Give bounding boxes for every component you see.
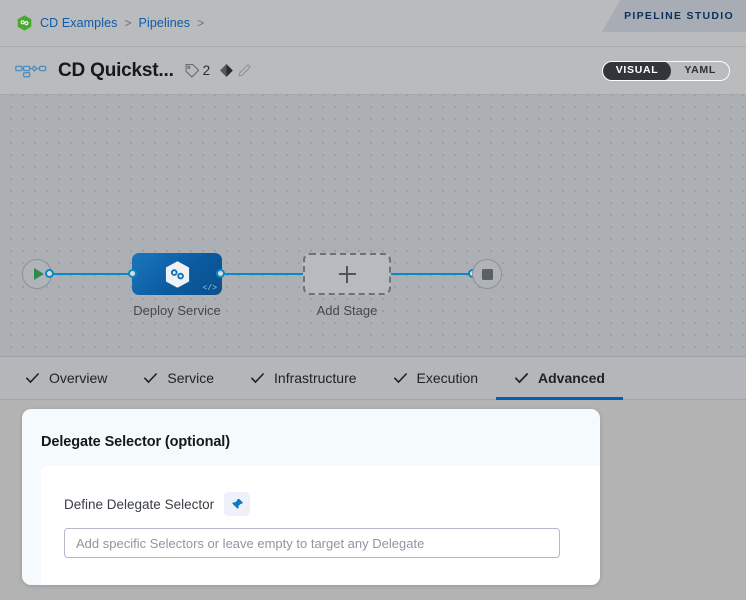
breadcrumb-link-pipelines[interactable]: Pipelines	[139, 16, 191, 30]
pipeline-studio-page: CD Examples > Pipelines > PIPELINE STUDI…	[0, 0, 746, 600]
stage-config-tabs: Overview Service Infrastructure Executio…	[0, 357, 746, 400]
pipeline-title-bar: CD Quickst... 2 VI	[0, 47, 746, 95]
add-stage-label: Add Stage	[303, 303, 391, 318]
pencil-edit-icon[interactable]	[237, 63, 252, 78]
check-icon	[143, 372, 158, 384]
tab-infrastructure[interactable]: Infrastructure	[232, 357, 374, 400]
harness-hexagon-icon	[164, 260, 191, 289]
delegate-selector-card: Delegate Selector (optional) Define Dele…	[22, 409, 600, 585]
tab-overview[interactable]: Overview	[7, 357, 125, 400]
end-node[interactable]	[472, 259, 502, 289]
pipeline-canvas[interactable]: </> Deploy Service Add Stage	[0, 95, 746, 357]
view-mode-toggle[interactable]: VISUAL YAML	[602, 61, 730, 81]
delegate-selector-field-label: Define Delegate Selector	[64, 497, 214, 512]
tag-count: 2	[203, 63, 211, 78]
port-deploy-in[interactable]	[128, 269, 137, 278]
play-triangle-icon	[34, 268, 44, 280]
pipeline-studio-badge: PIPELINE STUDIO	[602, 0, 746, 32]
breadcrumb-link-cd-examples[interactable]: CD Examples	[40, 16, 118, 30]
plus-icon-vertical	[346, 266, 348, 283]
git-diamond-icon[interactable]	[219, 63, 234, 78]
harness-hexagon-icon	[17, 15, 32, 31]
breadcrumb-separator: >	[197, 16, 204, 30]
edge-addstage-to-end	[388, 273, 476, 275]
delegate-selector-inner-panel: Define Delegate Selector	[41, 466, 600, 585]
port-deploy-out[interactable]	[216, 269, 225, 278]
port-start-out[interactable]	[45, 269, 54, 278]
delegate-selector-input[interactable]	[64, 528, 560, 558]
delegate-selector-heading: Delegate Selector (optional)	[22, 409, 600, 450]
delegate-selector-field-row: Define Delegate Selector	[41, 466, 600, 516]
tab-label-advanced: Advanced	[538, 370, 605, 386]
check-icon	[393, 372, 408, 384]
tab-service[interactable]: Service	[125, 357, 232, 400]
tab-advanced[interactable]: Advanced	[496, 357, 623, 400]
toggle-option-yaml[interactable]: YAML	[671, 61, 729, 81]
breadcrumb-bar: CD Examples > Pipelines > PIPELINE STUDI…	[0, 0, 746, 47]
tab-label-service: Service	[167, 370, 214, 386]
edge-start-to-deploy	[50, 273, 136, 275]
check-icon	[250, 372, 265, 384]
page-title: CD Quickst...	[58, 60, 174, 82]
pin-thumbtack-icon[interactable]	[224, 492, 250, 516]
toggle-option-visual[interactable]: VISUAL	[603, 61, 672, 81]
code-badge-icon: </>	[203, 284, 217, 293]
check-icon	[514, 372, 529, 384]
add-stage-button[interactable]	[303, 253, 391, 295]
tab-label-infrastructure: Infrastructure	[274, 370, 356, 386]
tag-icon[interactable]	[184, 63, 199, 78]
check-icon	[25, 372, 40, 384]
pipeline-nodes-icon	[15, 63, 49, 79]
edge-deploy-to-addstage	[220, 273, 308, 275]
tab-execution[interactable]: Execution	[375, 357, 496, 400]
stage-label-deploy-service: Deploy Service	[132, 303, 222, 318]
tab-label-execution: Execution	[417, 370, 478, 386]
breadcrumb-separator: >	[125, 16, 132, 30]
tab-label-overview: Overview	[49, 370, 107, 386]
stop-square-icon	[482, 269, 493, 280]
title-meta-group: 2	[184, 63, 253, 78]
stage-node-deploy-service[interactable]: </>	[132, 253, 222, 295]
